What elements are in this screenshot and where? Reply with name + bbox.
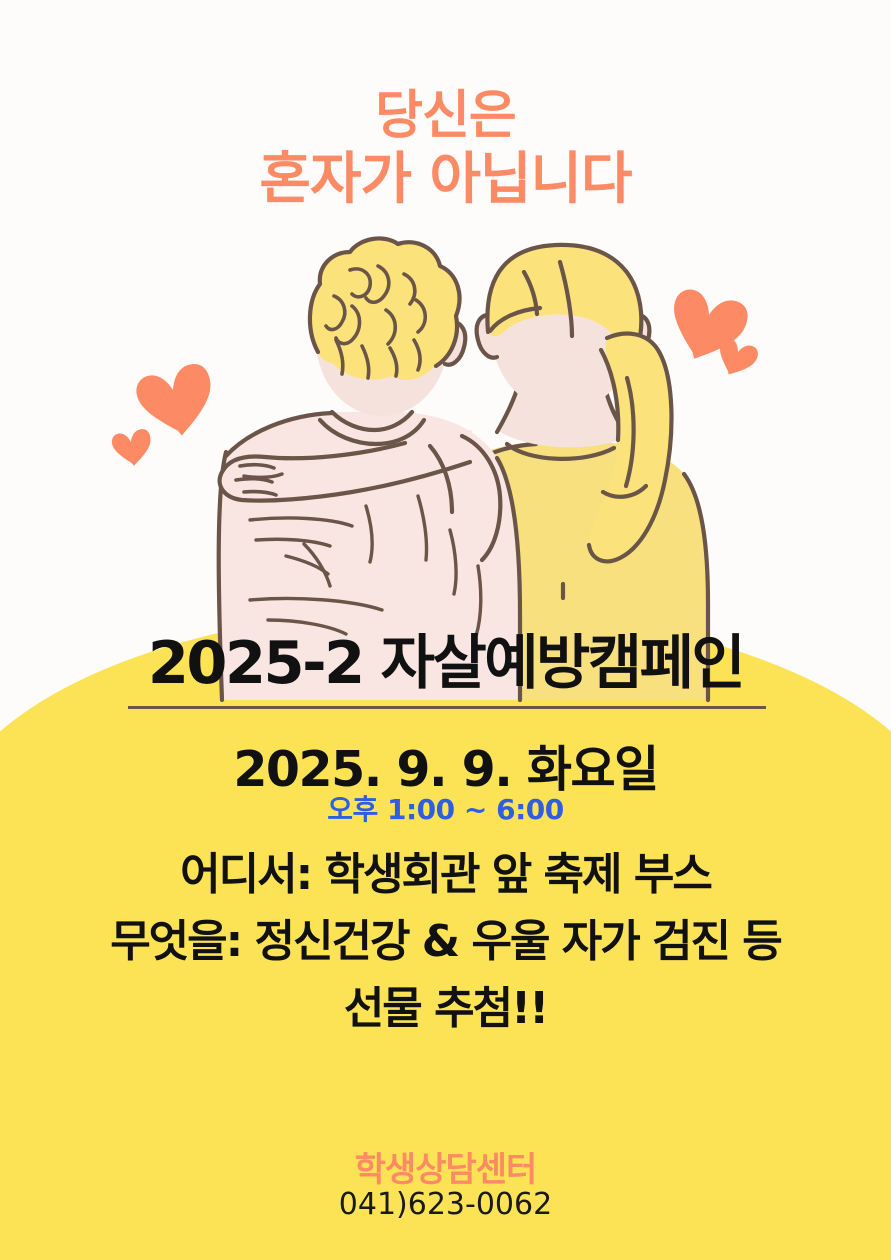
poster-headline: 당신은 혼자가 아닙니다 <box>0 86 891 213</box>
heart-left-large <box>133 360 223 445</box>
headline-line-2: 혼자가 아닙니다 <box>0 147 891 213</box>
heart-right-small <box>713 336 761 381</box>
organization-name: 학생상담센터 <box>0 1142 891 1191</box>
event-details: 어디서: 학생회관 앞 축제 부스 무엇을: 정신건강 & 우울 자가 검진 등… <box>0 842 891 1043</box>
contact-phone: 041)623-0062 <box>0 1187 891 1222</box>
heart-right-large <box>663 286 752 369</box>
detail-activity: 무엇을: 정신건강 & 우울 자가 검진 등 <box>0 909 891 976</box>
poster-canvas: 당신은 혼자가 아닙니다 2025-2 자살예방캠페인 2025. 9. 9. … <box>0 0 891 1260</box>
main-title-wrapper: 2025-2 자살예방캠페인 <box>0 632 891 694</box>
campaign-title: 2025-2 자살예방캠페인 <box>148 632 743 694</box>
title-underline <box>128 706 766 709</box>
heart-left-small <box>110 427 155 469</box>
detail-location: 어디서: 학생회관 앞 축제 부스 <box>0 842 891 909</box>
event-time: 오후 1:00 ~ 6:00 <box>0 788 891 828</box>
headline-line-1: 당신은 <box>0 86 891 147</box>
detail-giveaway: 선물 추첨!! <box>0 976 891 1043</box>
